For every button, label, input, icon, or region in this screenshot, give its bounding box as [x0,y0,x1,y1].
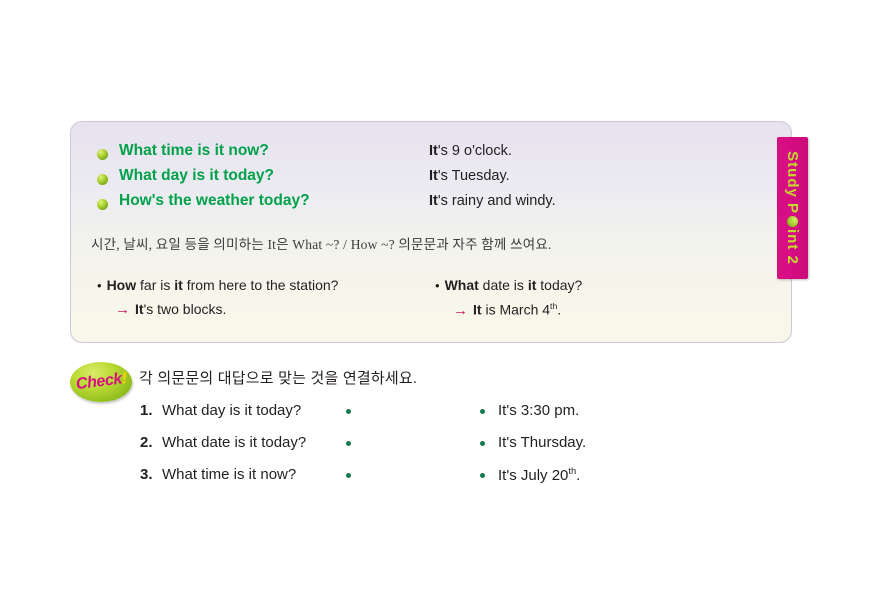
study-point-side-tab-label: Study Pint 2 [777,137,808,279]
match-item-number: 3. [140,466,153,483]
qa-answer: It's 9 o'clock. [429,143,512,159]
example-question-keyword: How [107,277,137,293]
qa-answer-bold: It [429,193,438,209]
match-right-text: It's Thursday. [498,434,586,451]
example-question-text-2: from here to the station? [183,277,339,293]
check-instruction-text: 각 의문문의 대답으로 맞는 것을 연결하세요. [139,367,417,388]
study-point-panel: What time is it now? It's 9 o'clock. Wha… [70,121,792,343]
matching-exercise: 1. What day is it today? It's 3:30 pm. 2… [140,402,700,498]
example-question-text-1: date is [479,277,528,293]
worksheet-page: { "study_panel": { "side_tab": { "text_b… [0,0,873,612]
match-item-number: 1. [140,402,153,419]
example-question: What date is it today? [435,277,765,293]
qa-answer-rest: 's rainy and windy. [438,193,556,209]
example-answer-bold: It [135,301,144,317]
example-answer-rest: 's two blocks. [144,301,227,317]
example-column-left: How far is it from here to the station? … [97,277,447,318]
match-right-ordinal-suffix: th [568,466,576,476]
qa-question: What time is it now? [119,142,429,160]
match-left-text: What date is it today? [162,434,306,451]
qa-question: How's the weather today? [119,192,429,210]
match-dot-left[interactable] [346,473,351,478]
qa-answer: It's Tuesday. [429,168,510,184]
match-row: 2. What date is it today? It's Thursday. [140,434,700,466]
match-row: 3. What time is it now? It's July 20th. [140,466,700,498]
match-dot-right[interactable] [480,473,485,478]
example-answer-bold: It [473,302,482,318]
match-left-text: What day is it today? [162,402,301,419]
match-right-text: It's July 20th. [498,466,580,484]
match-left-text: What time is it now? [162,466,296,483]
match-item-number: 2. [140,434,153,451]
match-dot-right[interactable] [480,409,485,414]
example-question: How far is it from here to the station? [97,277,447,293]
qa-answer-rest: 's Tuesday. [438,168,510,184]
green-ball-bullet-icon [97,149,108,160]
check-badge-label: Check! [75,370,128,394]
study-point-side-tab: Study Pint 2 [777,137,808,279]
match-right-text: It's 3:30 pm. [498,402,579,419]
example-answer-rest: is March 4 [482,302,550,318]
qa-row: What day is it today? It's Tuesday. [97,167,556,192]
green-ball-o-icon [787,216,798,227]
example-answer: →It's two blocks. [115,301,447,318]
example-question-text-2: today? [536,277,582,293]
qa-answer-rest: 's 9 o'clock. [438,143,512,159]
example-column-right: What date is it today? →It is March 4th. [435,277,765,319]
example-answer-tail: . [557,302,561,318]
match-right-main: It's July 20 [498,467,568,484]
match-right-tail: . [576,467,580,484]
example-answer: →It is March 4th. [453,301,765,319]
green-ball-bullet-icon [97,199,108,210]
qa-row: How's the weather today? It's rainy and … [97,192,556,217]
qa-question: What day is it today? [119,167,429,185]
qa-row: What time is it now? It's 9 o'clock. [97,142,556,167]
question-answer-list: What time is it now? It's 9 o'clock. Wha… [97,142,556,217]
qa-answer: It's rainy and windy. [429,193,556,209]
qa-answer-bold: It [429,168,438,184]
match-dot-left[interactable] [346,441,351,446]
match-row: 1. What day is it today? It's 3:30 pm. [140,402,700,434]
arrow-right-icon: → [115,301,130,318]
example-question-text-1: far is [136,277,174,293]
match-dot-right[interactable] [480,441,485,446]
match-dot-left[interactable] [346,409,351,414]
arrow-right-icon: → [453,302,468,319]
study-tab-text-before: Study P [784,151,801,214]
green-ball-bullet-icon [97,174,108,185]
study-tab-text-after: int 2 [784,229,801,265]
example-question-keyword: What [445,277,479,293]
qa-answer-bold: It [429,143,438,159]
example-question-it: it [174,277,183,293]
check-badge-word: Check [75,371,123,393]
check-badge-icon: Check! [70,362,132,402]
korean-explanation-note: 시간, 날씨, 요일 등을 의미하는 It은 What ~? / How ~? … [91,233,552,253]
